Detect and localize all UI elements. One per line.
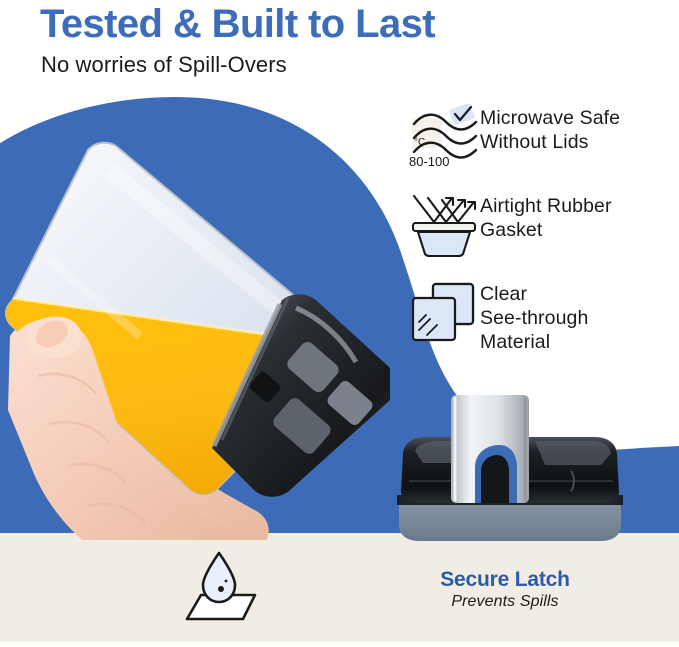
- feature-list: °C 80-100 Microwave Safe Without Lids: [408, 104, 679, 376]
- page-title: Tested & Built to Last: [40, 2, 435, 47]
- page-subtitle: No worries of Spill-Overs: [41, 52, 287, 78]
- feature-label-airtight-gasket: Airtight Rubber Gasket: [480, 192, 612, 242]
- water-drop-on-surface-icon: [175, 545, 270, 625]
- feature-line-2: Without Lids: [480, 130, 620, 154]
- latch-title: Secure Latch: [380, 568, 630, 592]
- microwave-waves-icon: °C 80-100: [408, 104, 480, 170]
- feature-label-clear-material: Clear See-through Material: [480, 280, 588, 354]
- secure-latch-photo: [395, 385, 645, 550]
- latch-subtitle: Prevents Spills: [380, 593, 630, 611]
- feature-line-1: Clear: [480, 282, 588, 306]
- feature-line-2: See-through: [480, 306, 588, 330]
- feature-line-1: Airtight Rubber: [480, 194, 612, 218]
- latch-clip: [451, 395, 529, 503]
- airtight-container-icon: [408, 192, 480, 258]
- feature-item-microwave-safe: °C 80-100 Microwave Safe Without Lids: [408, 104, 679, 170]
- feature-item-airtight-gasket: Airtight Rubber Gasket: [408, 192, 679, 258]
- hand-holding-container-photo: [0, 140, 390, 540]
- feature-line-3: Material: [480, 330, 588, 354]
- feature-line-2: Gasket: [480, 218, 612, 242]
- temperature-unit-label: °C: [414, 137, 425, 148]
- header: Tested & Built to Last No worries of Spi…: [0, 0, 679, 88]
- feature-item-clear-material: Clear See-through Material: [408, 280, 679, 354]
- temperature-range-label: 80-100: [409, 154, 449, 169]
- feature-label-microwave-safe: Microwave Safe Without Lids: [480, 104, 620, 154]
- clear-panels-icon: [408, 280, 480, 346]
- feature-line-1: Microwave Safe: [480, 106, 620, 130]
- secure-latch-caption: Secure Latch Prevents Spills: [380, 568, 630, 611]
